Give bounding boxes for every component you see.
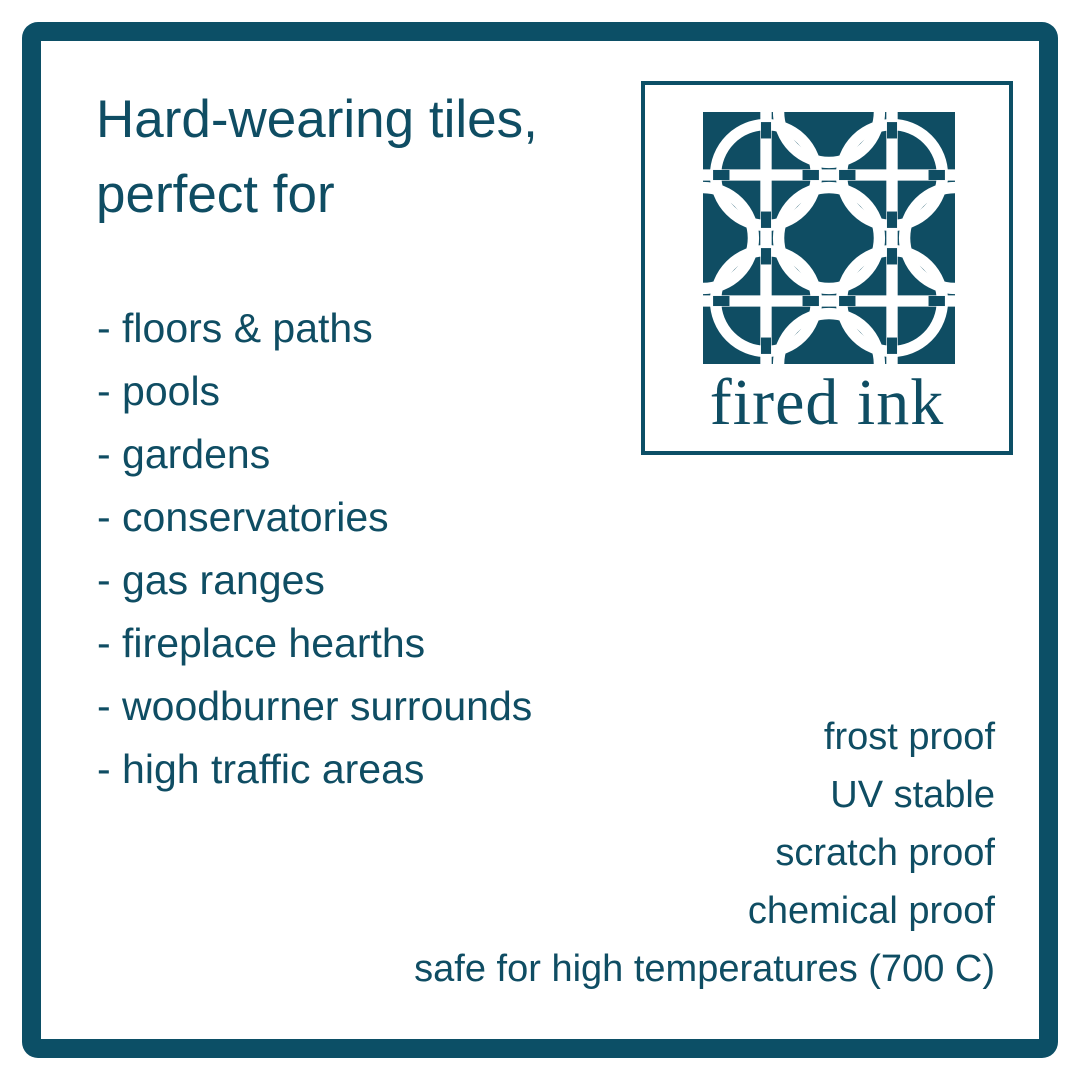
list-item: - floors & paths <box>97 297 657 360</box>
list-item: - pools <box>97 360 657 423</box>
property-item: frost proof <box>235 708 995 766</box>
property-item: scratch proof <box>235 824 995 882</box>
property-item: safe for high temperatures (700 C) <box>235 940 995 998</box>
list-item: - fireplace hearths <box>97 612 657 675</box>
logo-frame: fired ink <box>641 81 1013 455</box>
property-item: UV stable <box>235 766 995 824</box>
celtic-knot-tile-icon <box>701 112 957 364</box>
properties-list: frost proof UV stable scratch proof chem… <box>235 708 995 998</box>
property-item: chemical proof <box>235 882 995 940</box>
promo-card: Hard-wearing tiles, perfect for - floors… <box>0 0 1080 1080</box>
list-item: - gas ranges <box>97 549 657 612</box>
page-title: Hard-wearing tiles, perfect for <box>96 82 636 232</box>
list-item: - conservatories <box>97 486 657 549</box>
logo-wordmark: fired ink <box>645 368 1009 438</box>
list-item: - gardens <box>97 423 657 486</box>
